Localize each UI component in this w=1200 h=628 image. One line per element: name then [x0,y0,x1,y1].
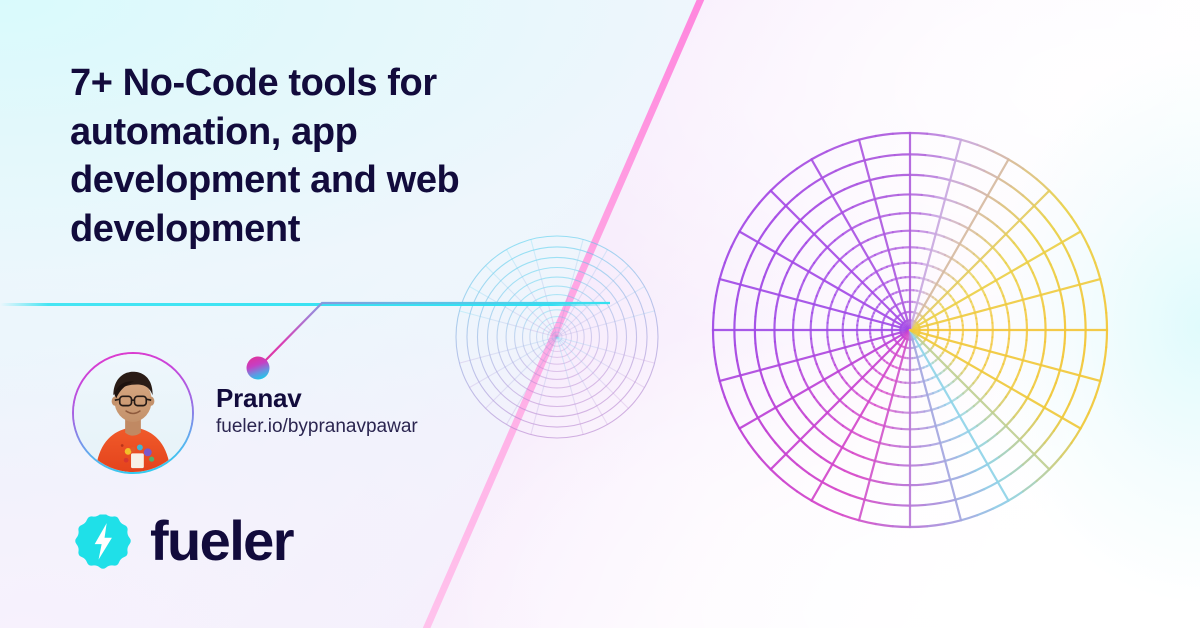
lightning-bolt-badge-icon [72,510,134,572]
author-name: Pranav [216,384,418,413]
author-text: Pranav fueler.io/bypranavpawar [216,384,418,442]
main-polar-grid [705,125,1115,535]
author-handle: fueler.io/bypranavpawar [216,417,418,438]
share-card: 7+ No-Code tools for automation, app dev… [0,0,1200,628]
avatar-photo [74,354,192,472]
avatar [72,352,194,474]
author-block: Pranav fueler.io/bypranavpawar [72,352,418,474]
brand-logo[interactable]: fueler [72,510,293,572]
brand-name: fueler [150,513,293,569]
page-title: 7+ No-Code tools for automation, app dev… [70,59,590,254]
